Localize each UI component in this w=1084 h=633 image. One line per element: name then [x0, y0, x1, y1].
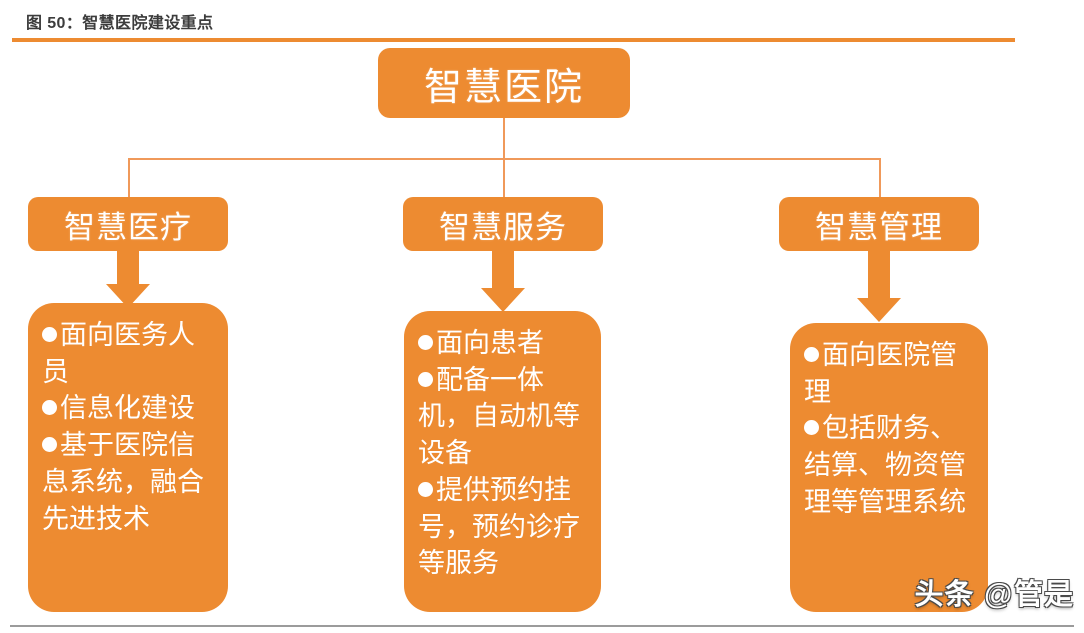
- bullet-icon: [42, 400, 57, 415]
- connector-drop-3: [879, 158, 881, 198]
- title-divider: [12, 38, 1015, 42]
- node-branch-1-label: 智慧医疗: [64, 202, 192, 247]
- arrow-stem-1: [117, 250, 139, 286]
- page-title: 图 50：智慧医院建设重点: [26, 9, 213, 33]
- node-leaf-3[interactable]: 面向医院管理 包括财务、结算、物资管理等管理系统: [790, 323, 988, 612]
- bullet-icon: [42, 327, 57, 342]
- list-item: 信息化建设: [42, 390, 218, 427]
- node-branch-3[interactable]: 智慧管理: [779, 197, 979, 251]
- list-item: 提供预约挂号，预约诊疗等服务: [418, 472, 591, 582]
- list-item-text: 面向医院管理: [804, 340, 957, 407]
- bullet-icon: [804, 420, 819, 435]
- node-branch-2[interactable]: 智慧服务: [403, 197, 603, 251]
- watermark-at: @: [984, 579, 1014, 611]
- arrow-head-2: [481, 288, 525, 312]
- list-item-text: 配备一体机，自动机等设备: [418, 365, 580, 468]
- leaf-1-list: 面向医务人员 信息化建设 基于医院信息系统，融合先进技术: [42, 317, 218, 537]
- leaf-2-list: 面向患者 配备一体机，自动机等设备 提供预约挂号，预约诊疗等服务: [418, 325, 591, 582]
- connector-root-stem: [503, 118, 505, 160]
- node-branch-3-label: 智慧管理: [815, 202, 943, 247]
- watermark-handle: 管是: [1014, 579, 1074, 611]
- bullet-icon: [418, 335, 433, 350]
- connector-drop-1: [128, 158, 130, 198]
- list-item: 面向医务人员: [42, 317, 218, 390]
- watermark: 头条 @管是: [914, 571, 1074, 613]
- bullet-icon: [418, 372, 433, 387]
- node-root[interactable]: 智慧医院: [378, 48, 630, 118]
- bullet-icon: [804, 347, 819, 362]
- list-item-text: 信息化建设: [60, 393, 195, 423]
- list-item-text: 基于医院信息系统，融合先进技术: [42, 430, 204, 533]
- arrow-head-3: [857, 298, 901, 322]
- bullet-icon: [418, 482, 433, 497]
- leaf-3-list: 面向医院管理 包括财务、结算、物资管理等管理系统: [804, 337, 978, 521]
- bullet-icon: [42, 437, 57, 452]
- list-item-text: 包括财务、结算、物资管理等管理系统: [804, 413, 966, 516]
- list-item: 基于医院信息系统，融合先进技术: [42, 427, 218, 537]
- node-branch-2-label: 智慧服务: [439, 202, 567, 247]
- list-item-text: 提供预约挂号，预约诊疗等服务: [418, 475, 580, 578]
- figure-canvas: 图 50：智慧医院建设重点 智慧医院 智慧医疗 智慧服务 智慧管理 面向医务人员…: [0, 0, 1084, 633]
- arrow-stem-2: [492, 250, 514, 290]
- node-root-label: 智慧医院: [424, 56, 584, 111]
- node-leaf-1[interactable]: 面向医务人员 信息化建设 基于医院信息系统，融合先进技术: [28, 303, 228, 612]
- list-item: 面向医院管理: [804, 337, 978, 410]
- list-item: 配备一体机，自动机等设备: [418, 362, 591, 472]
- bottom-divider: [10, 625, 1074, 627]
- list-item: 包括财务、结算、物资管理等管理系统: [804, 410, 978, 520]
- node-branch-1[interactable]: 智慧医疗: [28, 197, 228, 251]
- connector-drop-2: [503, 158, 505, 198]
- node-leaf-2[interactable]: 面向患者 配备一体机，自动机等设备 提供预约挂号，预约诊疗等服务: [404, 311, 601, 612]
- list-item-text: 面向患者: [436, 328, 544, 358]
- arrow-stem-3: [868, 250, 890, 300]
- list-item-text: 面向医务人员: [42, 320, 195, 387]
- watermark-brand: 头条: [914, 579, 974, 611]
- list-item: 面向患者: [418, 325, 591, 362]
